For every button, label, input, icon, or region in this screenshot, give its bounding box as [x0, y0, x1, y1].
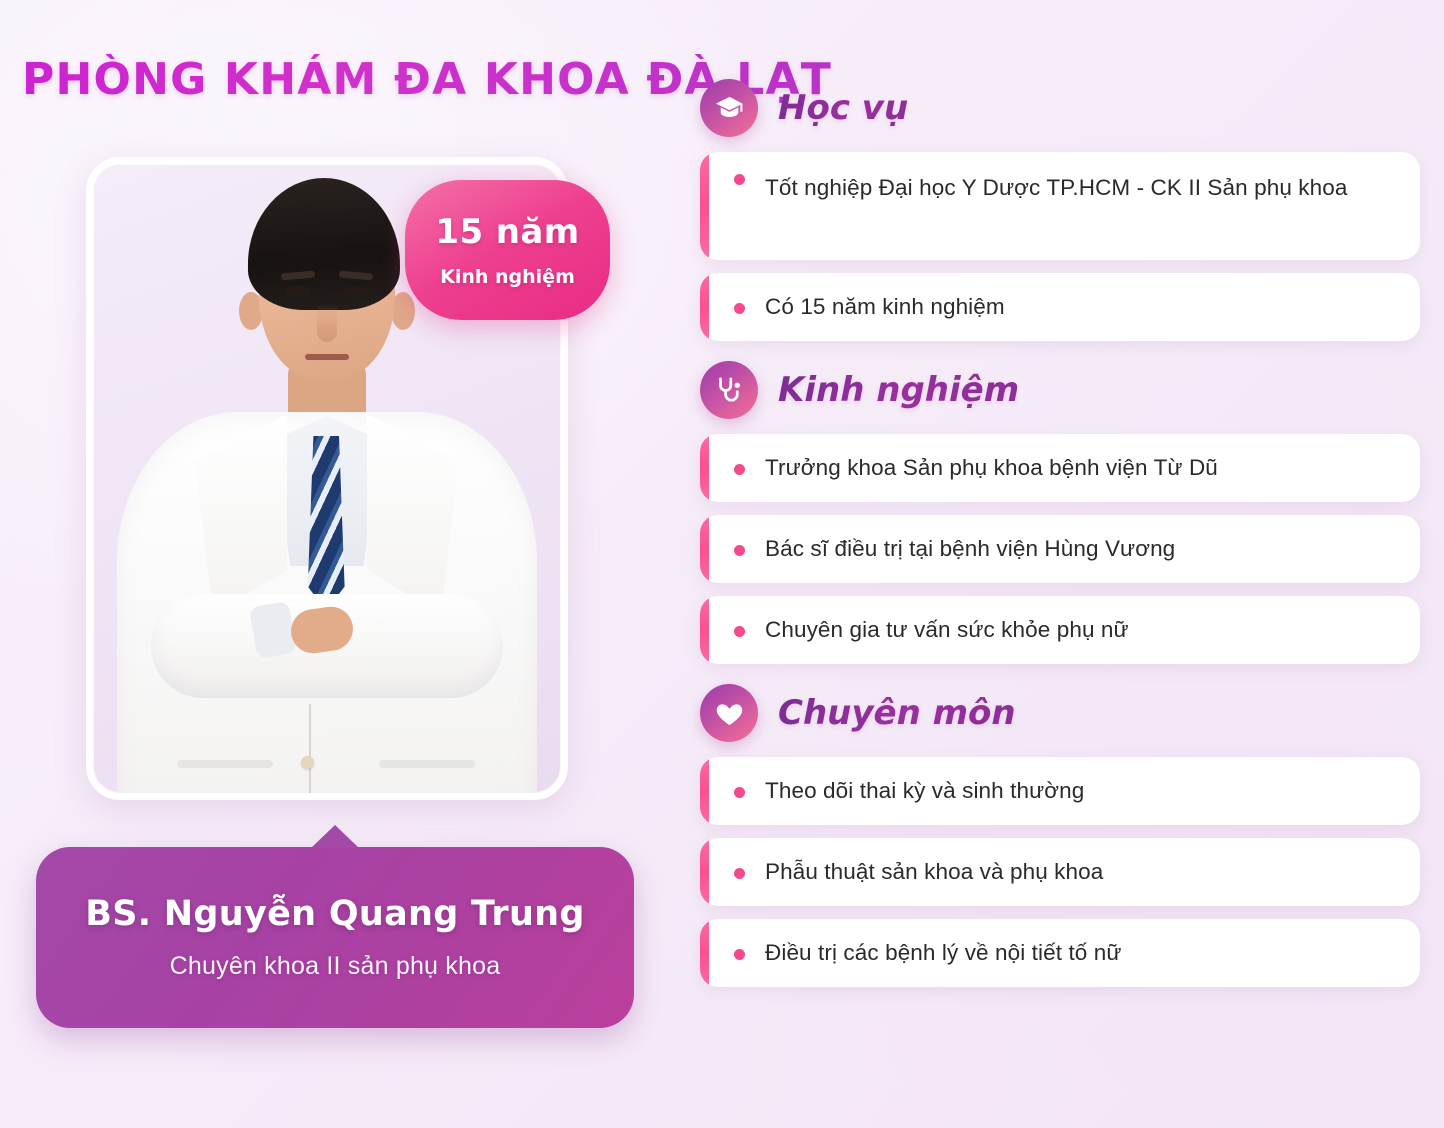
section-title-hoc-vu: Học vụ — [778, 88, 908, 128]
infographic-poster: PHÒNG KHÁM ĐA KHOA ĐÀ LẠT — [0, 0, 1444, 1128]
doctor-name-plate: BS. Nguyễn Quang Trung Chuyên khoa II sả… — [36, 847, 634, 1028]
section-title-chuyen-mon: Chuyên môn — [778, 693, 1016, 733]
list-item: Theo dõi thai kỳ và sinh thường — [700, 757, 1420, 825]
list-item-text: Điều trị các bệnh lý về nội tiết tố nữ — [765, 937, 1122, 970]
bullet-icon — [734, 949, 745, 960]
list-item-text: Theo dõi thai kỳ và sinh thường — [765, 775, 1084, 808]
bullet-icon — [734, 868, 745, 879]
list-item-text: Tốt nghiệp Đại học Y Dược TP.HCM - CK II… — [765, 172, 1348, 205]
nose-shape — [317, 304, 337, 342]
section-title-kinh-nghiem: Kinh nghiệm — [778, 370, 1019, 410]
list-item-text: Chuyên gia tư vấn sức khỏe phụ nữ — [765, 614, 1129, 647]
section-header-hoc-vu: Học vụ — [700, 72, 1420, 144]
coat-seam — [309, 704, 311, 800]
eye-right — [343, 286, 369, 297]
heart-icon — [700, 684, 758, 742]
coat-pocket-right — [379, 760, 475, 768]
section-header-chuyen-mon: Chuyên môn — [700, 677, 1420, 749]
bullet-icon — [734, 174, 745, 185]
name-plate-notch — [311, 825, 359, 848]
bullet-icon — [734, 464, 745, 475]
doctor-specialty: Chuyên khoa II sản phụ khoa — [170, 952, 501, 981]
bullet-icon — [734, 303, 745, 314]
years-experience-badge: 15 năm Kinh nghiệm — [405, 180, 610, 320]
coat-pocket-left — [177, 760, 273, 768]
list-item: Có 15 năm kinh nghiệm — [700, 273, 1420, 341]
doctor-name: BS. Nguyễn Quang Trung — [85, 894, 585, 934]
section-kinh-nghiem: Kinh nghiệm Trưởng khoa Sản phụ khoa bện… — [700, 354, 1420, 664]
coat-button — [301, 756, 314, 769]
list-item-text: Bác sĩ điều trị tại bệnh viện Hùng Vương — [765, 533, 1175, 566]
list-item-text: Có 15 năm kinh nghiệm — [765, 291, 1005, 324]
bullet-icon — [734, 545, 745, 556]
list-item: Phẫu thuật sản khoa và phụ khoa — [700, 838, 1420, 906]
list-item: Bác sĩ điều trị tại bệnh viện Hùng Vương — [700, 515, 1420, 583]
bullet-icon — [734, 787, 745, 798]
hair-shape — [248, 178, 400, 310]
list-item: Trưởng khoa Sản phụ khoa bệnh viện Từ Dũ — [700, 434, 1420, 502]
stethoscope-icon — [700, 361, 758, 419]
eye-left — [285, 286, 311, 297]
badge-years-value: 15 năm — [435, 212, 579, 252]
list-item-text: Trưởng khoa Sản phụ khoa bệnh viện Từ Dũ — [765, 452, 1218, 485]
list-item: Tốt nghiệp Đại học Y Dược TP.HCM - CK II… — [700, 152, 1420, 260]
mouth-shape — [305, 354, 349, 360]
badge-years-label: Kinh nghiệm — [440, 266, 575, 288]
section-header-kinh-nghiem: Kinh nghiệm — [700, 354, 1420, 426]
credentials-column: Học vụ Tốt nghiệp Đại học Y Dược TP.HCM … — [700, 72, 1420, 1000]
bullet-icon — [734, 626, 745, 637]
section-chuyen-mon: Chuyên môn Theo dõi thai kỳ và sinh thườ… — [700, 677, 1420, 987]
section-hoc-vu: Học vụ Tốt nghiệp Đại học Y Dược TP.HCM … — [700, 72, 1420, 341]
graduation-cap-icon — [700, 79, 758, 137]
list-item: Điều trị các bệnh lý về nội tiết tố nữ — [700, 919, 1420, 987]
list-item-text: Phẫu thuật sản khoa và phụ khoa — [765, 856, 1103, 889]
list-item: Chuyên gia tư vấn sức khỏe phụ nữ — [700, 596, 1420, 664]
